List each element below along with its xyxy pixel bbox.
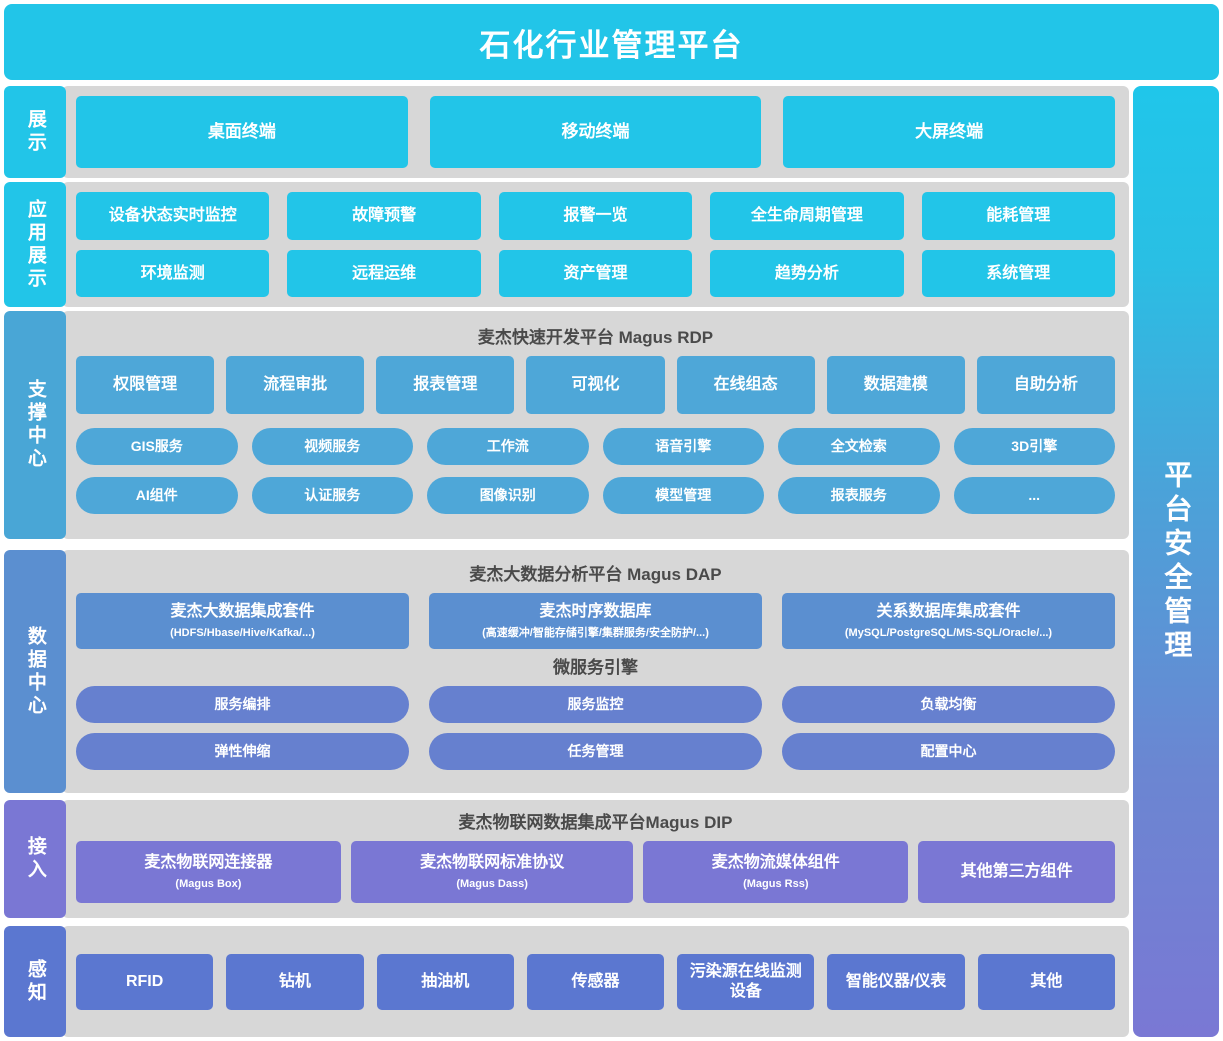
sensing-item-pumping-unit[interactable]: 抽油机 [377, 954, 514, 1010]
app-item-device-monitor[interactable]: 设备状态实时监控 [76, 192, 269, 240]
layer-label-display-text: 展示 [24, 109, 46, 155]
layer-label-application: 应用展示 [4, 182, 66, 307]
support-service-ai-component[interactable]: AI组件 [76, 477, 238, 514]
layer-body-sensing: RFID 钻机 抽油机 传感器 污染源在线监测设备 智能仪器/仪表 其他 [62, 926, 1129, 1037]
data-store-relational-db-suite[interactable]: 关系数据库集成套件 (MySQL/PostgreSQL/MS-SQL/Oracl… [782, 593, 1115, 649]
data-store-timeseries-db-title: 麦杰时序数据库 [539, 602, 651, 621]
support-item-workflow-approval[interactable]: 流程审批 [226, 356, 364, 414]
microservice-config-center[interactable]: 配置中心 [782, 733, 1115, 770]
app-item-energy[interactable]: 能耗管理 [922, 192, 1115, 240]
support-service-more[interactable]: ... [954, 477, 1116, 514]
support-item-data-modeling[interactable]: 数据建模 [827, 356, 965, 414]
page-title: 石化行业管理平台 [4, 4, 1219, 80]
access-item-iot-connector[interactable]: 麦杰物联网连接器 (Magus Box) [76, 841, 341, 903]
app-item-system[interactable]: 系统管理 [922, 250, 1115, 298]
display-item-mobile[interactable]: 移动终端 [430, 96, 762, 168]
data-store-timeseries-db-sub: (高速缓冲/智能存储引擎/集群服务/安全防护/...) [482, 627, 709, 640]
support-service-gis[interactable]: GIS服务 [76, 428, 238, 465]
layer-support: 支撑中心 麦杰快速开发平台 Magus RDP 权限管理 流程审批 报表管理 可… [4, 311, 1129, 539]
layer-label-access-text: 接入 [24, 836, 46, 882]
display-item-desktop[interactable]: 桌面终端 [76, 96, 408, 168]
sensing-item-rfid[interactable]: RFID [76, 954, 213, 1010]
support-service-workflow[interactable]: 工作流 [427, 428, 589, 465]
microservice-grid-1: 服务编排 服务监控 负载均衡 [76, 686, 1115, 723]
sensing-item-drilling-rig[interactable]: 钻机 [226, 954, 363, 1010]
microservice-orchestration[interactable]: 服务编排 [76, 686, 409, 723]
application-module-grid: 设备状态实时监控 故障预警 报警一览 全生命周期管理 能耗管理 环境监测 远程运… [76, 192, 1115, 297]
access-heading: 麦杰物联网数据集成平台Magus DIP [76, 804, 1115, 841]
app-item-trend[interactable]: 趋势分析 [710, 250, 903, 298]
microservice-task-management[interactable]: 任务管理 [429, 733, 762, 770]
sensing-item-sensor[interactable]: 传感器 [527, 954, 664, 1010]
support-heading: 麦杰快速开发平台 Magus RDP [76, 319, 1115, 356]
data-store-bigdata-suite[interactable]: 麦杰大数据集成套件 (HDFS/Hbase/Hive/Kafka/...) [76, 593, 409, 649]
app-item-asset[interactable]: 资产管理 [499, 250, 692, 298]
app-item-lifecycle[interactable]: 全生命周期管理 [710, 192, 903, 240]
microservice-load-balancing[interactable]: 负载均衡 [782, 686, 1115, 723]
support-service-auth[interactable]: 认证服务 [252, 477, 414, 514]
sensing-device-grid: RFID 钻机 抽油机 传感器 污染源在线监测设备 智能仪器/仪表 其他 [76, 954, 1115, 1010]
microservice-heading: 微服务引擎 [76, 649, 1115, 686]
support-service-video[interactable]: 视频服务 [252, 428, 414, 465]
support-service-image-recognition[interactable]: 图像识别 [427, 477, 589, 514]
data-store-timeseries-db[interactable]: 麦杰时序数据库 (高速缓冲/智能存储引擎/集群服务/安全防护/...) [429, 593, 762, 649]
support-top-grid: 权限管理 流程审批 报表管理 可视化 在线组态 数据建模 自助分析 [76, 356, 1115, 414]
support-service-grid-1: GIS服务 视频服务 工作流 语音引擎 全文检索 3D引擎 [76, 428, 1115, 465]
microservice-elastic-scaling[interactable]: 弹性伸缩 [76, 733, 409, 770]
layer-body-display: 桌面终端 移动终端 大屏终端 [62, 86, 1129, 178]
layer-body-data-center: 麦杰大数据分析平台 Magus DAP 麦杰大数据集成套件 (HDFS/Hbas… [62, 550, 1129, 793]
data-store-grid: 麦杰大数据集成套件 (HDFS/Hbase/Hive/Kafka/...) 麦杰… [76, 593, 1115, 649]
access-item-streaming-media-sub: (Magus Rss) [743, 878, 808, 891]
sensing-item-pollution-monitor[interactable]: 污染源在线监测设备 [677, 954, 814, 1010]
access-component-grid: 麦杰物联网连接器 (Magus Box) 麦杰物联网标准协议 (Magus Da… [76, 841, 1115, 903]
support-service-model-management[interactable]: 模型管理 [603, 477, 765, 514]
support-service-report[interactable]: 报表服务 [778, 477, 940, 514]
support-service-voice-engine[interactable]: 语音引擎 [603, 428, 765, 465]
data-heading: 麦杰大数据分析平台 Magus DAP [76, 556, 1115, 593]
layer-label-display: 展示 [4, 86, 66, 178]
layer-body-support: 麦杰快速开发平台 Magus RDP 权限管理 流程审批 报表管理 可视化 在线… [62, 311, 1129, 539]
access-item-iot-connector-title: 麦杰物联网连接器 [144, 853, 272, 872]
layer-label-data-center: 数据中心 [4, 550, 66, 793]
app-item-fault-warning[interactable]: 故障预警 [287, 192, 480, 240]
app-item-alarm-list[interactable]: 报警一览 [499, 192, 692, 240]
display-item-largescreen[interactable]: 大屏终端 [783, 96, 1115, 168]
layer-sensing: 感知 RFID 钻机 抽油机 传感器 污染源在线监测设备 智能仪器/仪表 其他 [4, 926, 1129, 1037]
platform-security-bar: 平台安全管理 [1133, 86, 1219, 1037]
access-item-third-party-title: 其他第三方组件 [961, 862, 1073, 881]
platform-security-label: 平台安全管理 [1161, 460, 1192, 664]
layer-label-sensing: 感知 [4, 926, 66, 1037]
microservice-monitoring[interactable]: 服务监控 [429, 686, 762, 723]
access-item-iot-protocol-title: 麦杰物联网标准协议 [420, 853, 564, 872]
access-item-streaming-media-title: 麦杰物流媒体组件 [712, 853, 840, 872]
layer-display: 展示 桌面终端 移动终端 大屏终端 [4, 86, 1129, 178]
data-store-bigdata-suite-sub: (HDFS/Hbase/Hive/Kafka/...) [170, 627, 315, 640]
support-item-report-management[interactable]: 报表管理 [376, 356, 514, 414]
layer-access: 接入 麦杰物联网数据集成平台Magus DIP 麦杰物联网连接器 (Magus … [4, 800, 1129, 918]
app-item-remote-ops[interactable]: 远程运维 [287, 250, 480, 298]
support-service-fulltext-search[interactable]: 全文检索 [778, 428, 940, 465]
layer-application: 应用展示 设备状态实时监控 故障预警 报警一览 全生命周期管理 能耗管理 环境监… [4, 182, 1129, 307]
app-item-environment[interactable]: 环境监测 [76, 250, 269, 298]
data-store-relational-db-suite-title: 关系数据库集成套件 [876, 602, 1020, 621]
access-item-streaming-media[interactable]: 麦杰物流媒体组件 (Magus Rss) [643, 841, 908, 903]
layer-body-application: 设备状态实时监控 故障预警 报警一览 全生命周期管理 能耗管理 环境监测 远程运… [62, 182, 1129, 307]
layer-label-application-text: 应用展示 [24, 199, 46, 291]
layer-label-access: 接入 [4, 800, 66, 918]
access-item-third-party[interactable]: 其他第三方组件 [918, 841, 1115, 903]
access-item-iot-protocol[interactable]: 麦杰物联网标准协议 (Magus Dass) [351, 841, 634, 903]
microservice-grid-2: 弹性伸缩 任务管理 配置中心 [76, 733, 1115, 770]
layer-label-support-text: 支撑中心 [24, 379, 46, 471]
display-terminal-grid: 桌面终端 移动终端 大屏终端 [76, 96, 1115, 168]
layer-label-support: 支撑中心 [4, 311, 66, 539]
layer-label-data-center-text: 数据中心 [24, 626, 46, 718]
sensing-item-other[interactable]: 其他 [978, 954, 1115, 1010]
data-store-bigdata-suite-title: 麦杰大数据集成套件 [170, 602, 314, 621]
support-item-self-analysis[interactable]: 自助分析 [977, 356, 1115, 414]
layer-label-sensing-text: 感知 [24, 959, 46, 1005]
support-item-visualization[interactable]: 可视化 [526, 356, 664, 414]
support-service-grid-2: AI组件 认证服务 图像识别 模型管理 报表服务 ... [76, 477, 1115, 514]
data-store-relational-db-suite-sub: (MySQL/PostgreSQL/MS-SQL/Oracle/...) [845, 627, 1052, 640]
access-item-iot-protocol-sub: (Magus Dass) [456, 878, 528, 891]
sensing-item-smart-instrument[interactable]: 智能仪器/仪表 [827, 954, 964, 1010]
support-item-online-config[interactable]: 在线组态 [677, 356, 815, 414]
architecture-diagram: 石化行业管理平台 平台安全管理 展示 桌面终端 移动终端 大屏终端 应用展示 设… [0, 0, 1223, 1041]
layer-body-access: 麦杰物联网数据集成平台Magus DIP 麦杰物联网连接器 (Magus Box… [62, 800, 1129, 918]
access-item-iot-connector-sub: (Magus Box) [175, 878, 241, 891]
support-service-3d-engine[interactable]: 3D引擎 [954, 428, 1116, 465]
layer-data-center: 数据中心 麦杰大数据分析平台 Magus DAP 麦杰大数据集成套件 (HDFS… [4, 550, 1129, 793]
support-item-permission[interactable]: 权限管理 [76, 356, 214, 414]
